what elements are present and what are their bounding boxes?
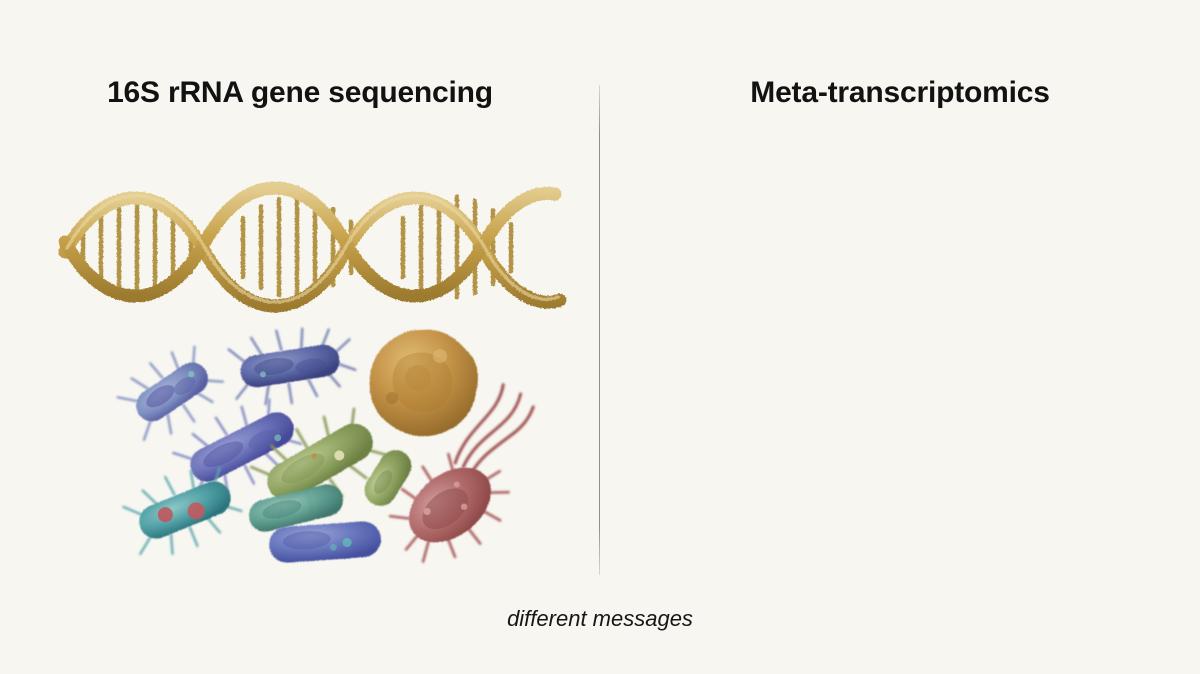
panel-divider [599, 85, 600, 575]
panel-title-left: 16S rRNA gene sequencing [0, 76, 600, 110]
panel-title-right: Meta-transcriptomics [600, 76, 1200, 110]
dna-double-helix-illustration [55, 160, 565, 325]
cell-golden-lumpy [370, 330, 478, 437]
panel-16s-rrna: 16S rRNA gene sequencing [0, 0, 600, 674]
rod-blue-bottom [268, 520, 383, 582]
dna-backbone-highlight [67, 196, 558, 303]
microbial-community-native [110, 330, 550, 585]
figure-caption: different messages [0, 606, 1200, 632]
dna-rungs-turn-2 [243, 197, 351, 297]
panel-meta-transcriptomics: Meta-transcriptomics [600, 0, 1200, 674]
comparison-figure: 16S rRNA gene sequencing [0, 0, 1200, 674]
rod-blue-upper-left [110, 335, 232, 450]
rod-indigo-top [227, 319, 359, 411]
